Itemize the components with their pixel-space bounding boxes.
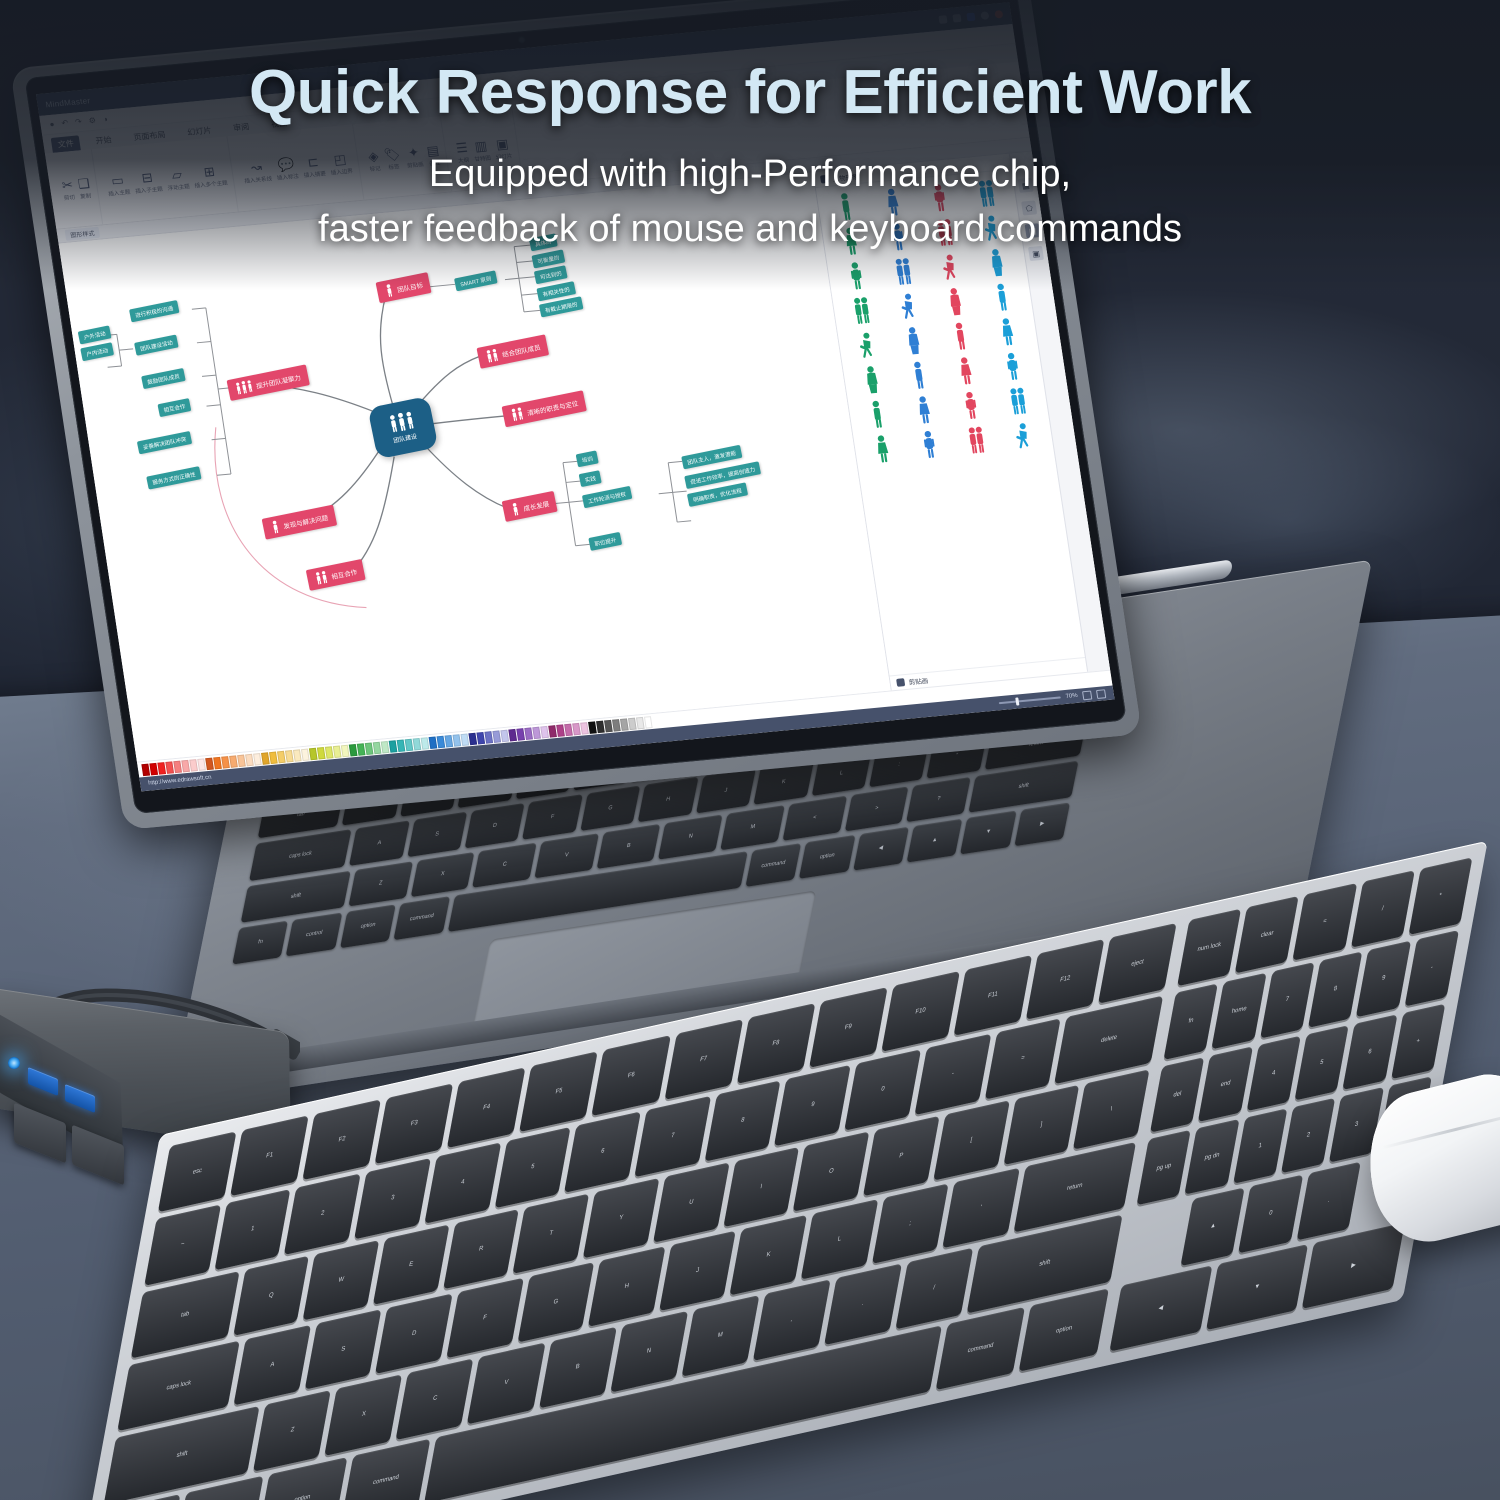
numpad-key[interactable]: del	[1150, 1057, 1205, 1133]
external-key[interactable]: E	[373, 1224, 450, 1305]
node-label: 户外活动	[83, 329, 106, 341]
external-key[interactable]: R	[443, 1209, 520, 1290]
clipart-figure[interactable]	[895, 359, 944, 393]
laptop-key[interactable]: H	[638, 777, 698, 822]
library-footer-icon	[896, 678, 905, 687]
clipart-figure[interactable]	[848, 363, 897, 397]
laptop-key[interactable]: B	[596, 823, 660, 868]
external-key[interactable]: =	[984, 1019, 1061, 1100]
external-key[interactable]: U	[653, 1162, 730, 1243]
external-key[interactable]: 3	[354, 1158, 431, 1239]
person-figure-icon	[269, 520, 281, 535]
mindmap-sub-node[interactable]: 职位提升	[588, 532, 622, 551]
laptop-key[interactable]: V	[534, 833, 598, 878]
numpad-key[interactable]: fn	[1164, 984, 1219, 1060]
numpad-key[interactable]: num lock	[1177, 909, 1241, 987]
laptop-key[interactable]: C	[472, 842, 536, 887]
external-key[interactable]: F9	[809, 987, 888, 1068]
numpad-gap	[1123, 1201, 1187, 1279]
laptop-key[interactable]: ◀	[853, 827, 909, 871]
mindmap-sub-node[interactable]: 培训	[576, 450, 599, 467]
headline-subtitle: Equipped with high-Performance chip, fas…	[0, 147, 1500, 257]
clipart-figure[interactable]	[947, 389, 996, 423]
mindmap-branch-node[interactable]: 成长发展	[502, 491, 558, 522]
numpad-key[interactable]: clear	[1235, 896, 1299, 974]
numpad-key[interactable]: 1	[1233, 1108, 1288, 1184]
numpad-key[interactable]: pg up	[1136, 1130, 1191, 1206]
clipart-figure[interactable]	[884, 290, 933, 324]
mindmap-sub-node[interactable]: 实践	[579, 470, 602, 487]
external-key[interactable]: D	[375, 1293, 452, 1374]
numpad-key[interactable]: *	[1408, 857, 1472, 935]
node-label: 实践	[584, 474, 596, 484]
laptop-key[interactable]: S	[407, 812, 467, 857]
numpad-key[interactable]: .	[1296, 1162, 1360, 1240]
laptop-key[interactable]: option	[340, 904, 396, 948]
status-url[interactable]: http://www.edrawsoft.cn	[148, 775, 212, 787]
group-figure-icon	[234, 379, 254, 395]
laptop-key[interactable]: command	[745, 843, 801, 887]
subtitle-line-2: faster feedback of mouse and keyboard co…	[0, 202, 1500, 257]
laptop-key[interactable]: <	[782, 795, 846, 840]
node-label: 促进工作效率，提高创造力	[690, 465, 756, 486]
clipart-figure[interactable]	[989, 350, 1038, 384]
node-label: 妥善解决团队冲突	[142, 434, 187, 451]
external-key[interactable]: F5	[519, 1051, 598, 1132]
clipart-figure[interactable]	[983, 315, 1032, 349]
external-key[interactable]: Z	[253, 1390, 331, 1471]
clipart-figure[interactable]	[858, 432, 907, 466]
external-key[interactable]: ]	[1003, 1084, 1080, 1165]
zoom-slider-knob[interactable]	[1015, 697, 1019, 705]
numpad-key[interactable]: 9	[1356, 941, 1411, 1017]
numpad-key[interactable]: 2	[1281, 1098, 1336, 1174]
laptop-key[interactable]: Z	[348, 861, 412, 906]
external-key[interactable]: T	[513, 1193, 590, 1274]
external-key[interactable]: S	[304, 1309, 381, 1390]
laptop-key[interactable]: A	[349, 821, 409, 866]
node-label: 工作轮派与授权	[587, 489, 626, 504]
full-screen-icon[interactable]	[1096, 689, 1106, 699]
mindmap-sub-node[interactable]: 户外活动	[78, 325, 112, 344]
external-key[interactable]: -	[914, 1034, 991, 1115]
external-key[interactable]: Q	[233, 1255, 310, 1336]
numpad-key[interactable]: /	[1350, 870, 1414, 948]
external-key[interactable]: A	[234, 1325, 311, 1406]
external-key[interactable]: M	[681, 1295, 759, 1376]
external-key[interactable]: I	[723, 1147, 800, 1228]
team-figure-icon	[387, 410, 416, 434]
external-key[interactable]: option	[1019, 1288, 1109, 1372]
node-label: 提升团队凝聚力	[255, 371, 301, 390]
product-marketing-image: esc~!@#$%^&*()—+delete tabQWERTYUIOP{}| …	[0, 0, 1500, 1500]
external-key[interactable]: J	[659, 1231, 736, 1312]
mindmap-branch-node[interactable]: 结合团队成员	[476, 334, 549, 368]
external-key[interactable]: ,	[752, 1280, 830, 1361]
external-key[interactable]: K	[730, 1215, 807, 1296]
center-node-label: 团队建设	[392, 431, 417, 445]
external-key[interactable]: L	[801, 1199, 878, 1280]
mindmap-sub-node[interactable]: 相互合作	[157, 398, 191, 417]
external-key[interactable]: 6	[564, 1112, 641, 1193]
node-label: 相互合作	[163, 402, 186, 414]
mindmap-sub-node[interactable]: 工作轮派与授权	[582, 486, 632, 508]
external-key[interactable]: [	[933, 1100, 1010, 1181]
clipart-figure[interactable]	[931, 285, 980, 319]
node-label: 结合团队成员	[501, 341, 541, 359]
fit-page-icon[interactable]	[1082, 690, 1092, 700]
external-key[interactable]: /	[895, 1248, 973, 1329]
numpad-key[interactable]: 0	[1239, 1175, 1303, 1253]
external-key[interactable]: O	[793, 1131, 870, 1212]
clipart-figure[interactable]	[853, 398, 902, 432]
external-key[interactable]: W	[303, 1240, 380, 1321]
external-key[interactable]: B	[539, 1327, 617, 1408]
headline-block: Quick Response for Efficient Work Equipp…	[0, 60, 1500, 257]
node-label: 明确职责，优化流程	[692, 486, 742, 504]
external-key[interactable]: X	[325, 1375, 403, 1456]
external-key[interactable]: F	[446, 1278, 523, 1359]
mindmap-branch-node[interactable]: 清晰的职责与定位	[502, 390, 587, 427]
node-label: 有截止期限的	[544, 300, 578, 314]
zoom-slider[interactable]	[999, 696, 1061, 704]
laptop-key[interactable]: fn	[232, 920, 288, 964]
external-key[interactable]: 8	[704, 1081, 781, 1162]
power-led	[8, 1057, 20, 1069]
subtitle-line-1: Equipped with high-Performance chip,	[0, 147, 1500, 202]
two-people-icon	[484, 348, 500, 364]
numpad-key[interactable]: 6	[1343, 1014, 1398, 1090]
mindmap-sub-node[interactable]: 进行积极的沟通	[129, 300, 179, 322]
numpad-key[interactable]: 7	[1260, 962, 1315, 1038]
external-key[interactable]: .	[824, 1264, 902, 1345]
external-key[interactable]: F11	[953, 955, 1032, 1036]
numpad-key[interactable]: pg dn	[1185, 1119, 1240, 1195]
laptop-key[interactable]: N	[658, 814, 722, 859]
mindmap-sub-node[interactable]: 服务方式的正确性	[146, 466, 201, 489]
page-title: Quick Response for Efficient Work	[0, 60, 1500, 125]
external-key[interactable]: \	[1073, 1069, 1150, 1150]
node-label: 进行积极的沟通	[134, 304, 173, 319]
node-label: 服务方式的正确性	[152, 470, 197, 487]
node-label: 培训	[581, 454, 593, 464]
numpad-key[interactable]: home	[1212, 973, 1267, 1049]
external-key[interactable]: 7	[634, 1096, 711, 1177]
external-key[interactable]: 2	[284, 1174, 361, 1255]
external-key[interactable]: F6	[592, 1035, 671, 1116]
library-footer-label: 剪贴画	[908, 675, 929, 687]
laptop-key[interactable]: X	[410, 852, 474, 897]
laptop-key[interactable]: ?	[906, 777, 970, 822]
node-label: 成长发展	[522, 498, 549, 513]
mindmap-branch-node[interactable]: 发现与解决问题	[262, 505, 337, 540]
laptop-key[interactable]: ▲	[906, 818, 962, 862]
laptop-key[interactable]: command	[394, 896, 450, 940]
external-key[interactable]: V	[467, 1343, 545, 1424]
external-key[interactable]: eject	[1098, 923, 1177, 1004]
external-key[interactable]: command	[935, 1306, 1025, 1390]
person-figure-icon	[509, 502, 521, 517]
node-label: 团队主人，激发潜能	[687, 448, 737, 466]
clipart-figure[interactable]	[900, 393, 949, 427]
external-key[interactable]: '	[942, 1168, 1019, 1249]
mindmap-branch-node[interactable]: 相互合作	[306, 559, 366, 591]
external-key[interactable]: 0	[844, 1050, 921, 1131]
external-key[interactable]: F1	[230, 1115, 309, 1196]
external-key[interactable]: 1	[214, 1189, 291, 1270]
external-key[interactable]: F7	[664, 1019, 743, 1100]
external-key[interactable]: G	[517, 1262, 594, 1343]
external-key[interactable]: F12	[1026, 939, 1105, 1020]
numpad-key[interactable]: 8	[1308, 952, 1363, 1028]
numpad-key[interactable]: 5	[1294, 1025, 1349, 1101]
external-key[interactable]: C	[396, 1359, 474, 1440]
laptop-key[interactable]: ▼	[960, 810, 1016, 854]
palette-swatch[interactable]	[644, 716, 653, 729]
node-label: 团队建设活动	[139, 338, 173, 352]
external-key[interactable]: 9	[774, 1065, 851, 1146]
numpad-key[interactable]: end	[1198, 1046, 1253, 1122]
external-key[interactable]: F4	[447, 1067, 526, 1148]
external-key[interactable]: F2	[302, 1099, 381, 1180]
external-key[interactable]: F3	[375, 1083, 454, 1164]
external-key[interactable]: esc	[158, 1131, 237, 1212]
external-key[interactable]: F10	[881, 971, 960, 1052]
laptop-key[interactable]: G	[580, 786, 640, 831]
clipart-figure[interactable]	[942, 354, 991, 388]
mindmap-center-node[interactable]: 团队建设	[367, 396, 438, 459]
external-key[interactable]: F8	[736, 1003, 815, 1084]
external-key[interactable]: P	[863, 1115, 940, 1196]
external-key[interactable]: H	[588, 1246, 665, 1327]
clipart-figure[interactable]	[999, 419, 1048, 453]
node-label: 清晰的职责与定位	[526, 397, 579, 417]
external-key[interactable]: ;	[871, 1183, 948, 1264]
node-label: 相互合作	[330, 566, 357, 581]
clipart-figure[interactable]	[843, 329, 892, 363]
clipart-figure[interactable]	[838, 294, 887, 328]
mindmap-sub-node[interactable]: 妥善解决团队冲突	[137, 431, 192, 454]
external-key[interactable]: 4	[424, 1143, 501, 1224]
laptop-key[interactable]: F	[522, 795, 582, 840]
node-label: 职位提升	[594, 535, 617, 547]
laptop-key[interactable]: D	[465, 803, 525, 848]
numpad-key[interactable]: -	[1404, 930, 1459, 1006]
clipart-figure[interactable]	[890, 324, 939, 358]
node-label: 户内活动	[86, 346, 109, 358]
clipart-figure[interactable]	[936, 320, 985, 354]
mindmap-sub-node[interactable]: 户内活动	[80, 342, 114, 361]
external-key[interactable]: ~	[144, 1205, 221, 1286]
laptop-key[interactable]: M	[720, 805, 784, 850]
two-people-icon	[509, 406, 525, 422]
external-key[interactable]: Y	[583, 1178, 660, 1259]
zoom-level: 70%	[1065, 693, 1078, 700]
mindmap-branch-node[interactable]: 提升团队凝聚力	[227, 364, 310, 401]
numpad-key[interactable]: ▲	[1181, 1188, 1245, 1266]
laptop-key[interactable]: ▶	[1014, 802, 1070, 846]
external-key[interactable]: N	[610, 1311, 688, 1392]
numpad-key[interactable]: +	[1391, 1003, 1446, 1079]
clipart-figure[interactable]	[905, 428, 954, 462]
mindmap-sub-node[interactable]: 鼓励团队成员	[141, 368, 186, 389]
laptop-key[interactable]: control	[286, 912, 342, 956]
external-key[interactable]: 5	[494, 1127, 571, 1208]
clipart-figure[interactable]	[994, 385, 1043, 419]
laptop-key[interactable]: >	[844, 786, 908, 831]
mindmap-sub-node[interactable]: 团队建设活动	[134, 335, 179, 356]
numpad-key[interactable]: =	[1293, 883, 1357, 961]
two-people-icon	[313, 570, 329, 586]
node-label: 鼓励团队成员	[146, 371, 180, 385]
node-label: 发现与解决问题	[282, 512, 328, 531]
laptop-key[interactable]: option	[799, 835, 855, 879]
numpad-key[interactable]: 4	[1246, 1035, 1301, 1111]
clipart-figure[interactable]	[952, 424, 1001, 458]
